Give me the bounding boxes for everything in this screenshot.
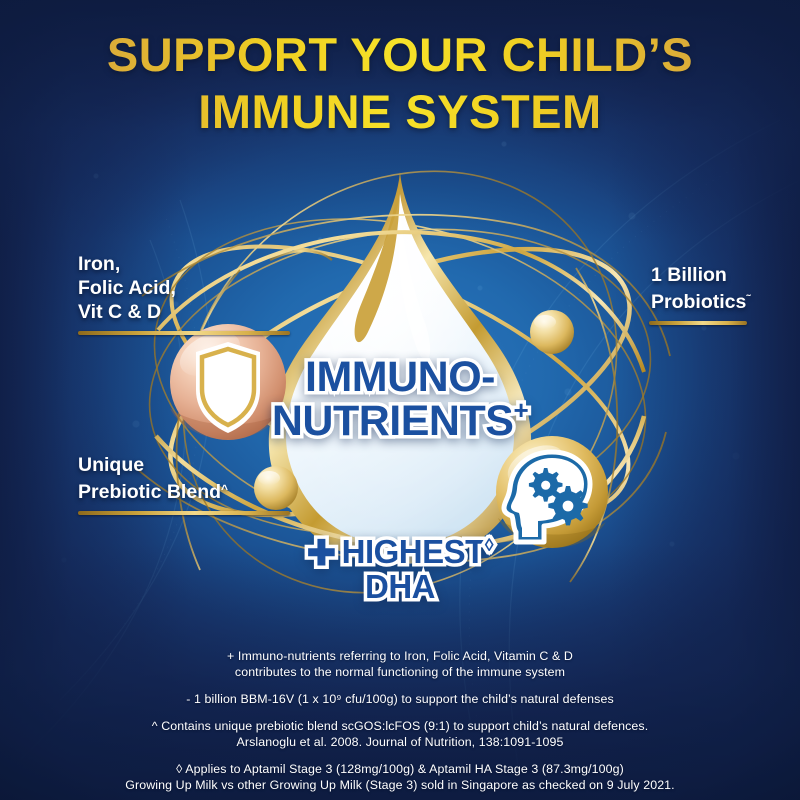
callout-iron-folic-vitamins: Iron, Folic Acid, Vit C & D	[78, 252, 290, 335]
wordmark-immuno-marker: +	[513, 395, 528, 425]
callout-prebiotic-marker: ^	[221, 482, 227, 496]
footnote-line: Growing Up Milk vs other Growing Up Milk…	[125, 778, 674, 792]
wordmark-highest-dha: ✚HIGHEST◊ DHA	[290, 536, 510, 603]
footnotes: + Immuno-nutrients referring to Iron, Fo…	[40, 648, 760, 793]
callout-probiotics-line-1: 1 Billion	[651, 264, 727, 286]
footnote-line: contributes to the normal functioning of…	[235, 665, 565, 679]
plus-icon: ✚	[307, 536, 336, 571]
footnote-dha: ◊ Applies to Aptamil Stage 3 (128mg/100g…	[40, 761, 760, 793]
callout-probiotics-line-2: Probiotics	[651, 291, 746, 313]
headline: SUPPORT YOUR CHILD’S IMMUNE SYSTEM	[0, 26, 800, 140]
wordmark-immuno-line-1: IMMUNO-	[305, 353, 495, 401]
footnote-line: Arslanoglu et al. 2008. Journal of Nutri…	[237, 735, 564, 749]
footnote-line: ^ Contains unique prebiotic blend scGOS:…	[152, 719, 649, 733]
footnote-line: + Immuno-nutrients referring to Iron, Fo…	[227, 649, 573, 663]
callout-underline	[78, 511, 290, 515]
callout-probiotics: 1 Billion Probiotics˜	[651, 263, 749, 325]
callout-iron-line-2: Folic Acid,	[78, 277, 176, 299]
footnote-probiotics: - 1 billion BBM-16V (1 x 10⁹ cfu/100g) t…	[40, 691, 760, 707]
callout-prebiotic-line-1: Unique	[78, 454, 144, 476]
callout-underline	[649, 321, 747, 325]
footnote-line: - 1 billion BBM-16V (1 x 10⁹ cfu/100g) t…	[186, 692, 614, 706]
brain-sphere	[496, 436, 608, 548]
headline-line-1: SUPPORT YOUR CHILD’S	[0, 26, 800, 83]
headline-line-2: IMMUNE SYSTEM	[0, 83, 800, 140]
callout-iron-line-3: Vit C & D	[78, 301, 161, 323]
wordmark-dha-line-1: HIGHEST	[342, 533, 485, 570]
footnote-prebiotic: ^ Contains unique prebiotic blend scGOS:…	[40, 718, 760, 750]
callout-iron-line-1: Iron,	[78, 253, 120, 275]
advertisement-poster: SUPPORT YOUR CHILD’S IMMUNE SYSTEM	[0, 0, 800, 800]
callout-underline	[78, 331, 290, 335]
orbit-node-sphere	[530, 310, 574, 354]
footnote-line: ◊ Applies to Aptamil Stage 3 (128mg/100g…	[176, 762, 624, 776]
footnote-immuno-nutrients: + Immuno-nutrients referring to Iron, Fo…	[40, 648, 760, 680]
callout-prebiotic-blend: Unique Prebiotic Blend^	[78, 453, 290, 515]
wordmark-dha-line-2: DHA	[365, 568, 435, 605]
callout-prebiotic-line-2: Prebiotic Blend	[78, 481, 221, 503]
callout-probiotics-marker: ˜	[746, 292, 749, 306]
wordmark-dha-marker: ◊	[485, 535, 493, 555]
wordmark-immuno-nutrients: IMMUNO- NUTRIENTS+	[250, 356, 550, 442]
wordmark-immuno-line-2: NUTRIENTS	[272, 397, 514, 445]
